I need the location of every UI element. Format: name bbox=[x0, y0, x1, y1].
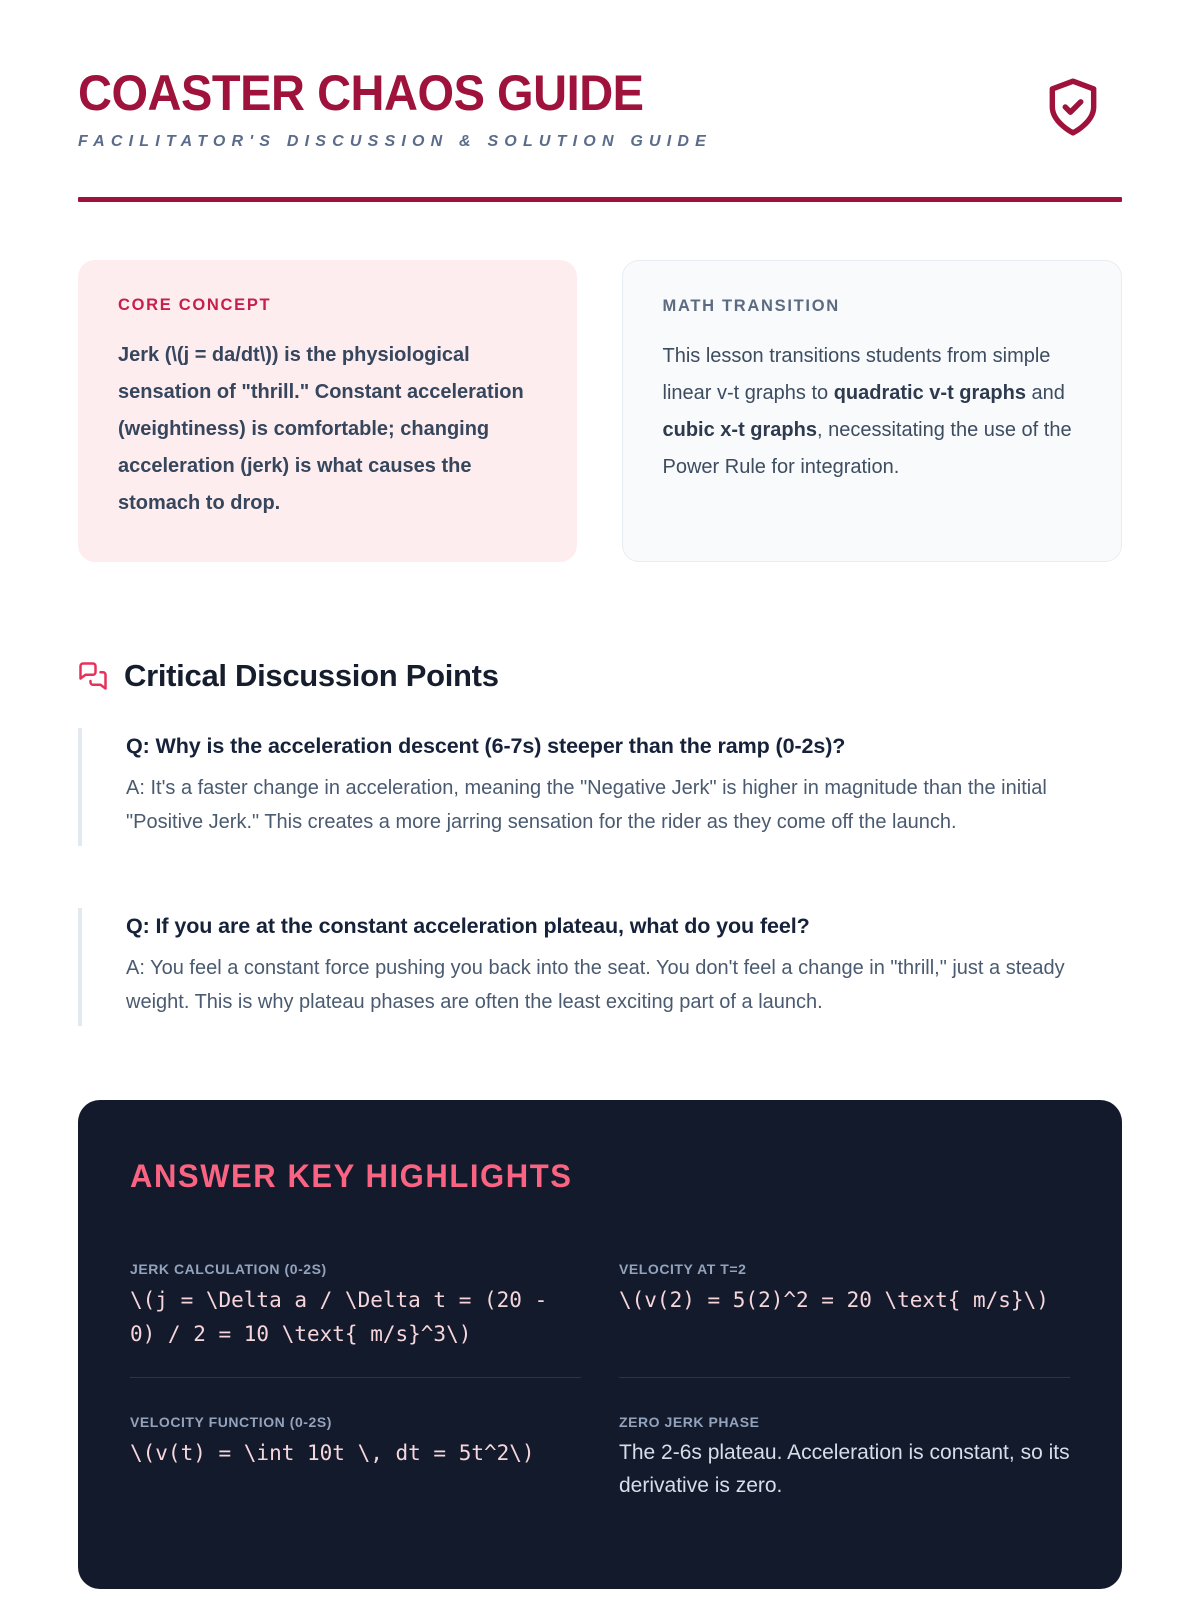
answer-key-entry-label: VELOCITY AT T=2 bbox=[619, 1261, 1070, 1277]
core-concept-card: CORE CONCEPT Jerk (\(j = da/dt\)) is the… bbox=[78, 260, 577, 562]
question-text: Q: Why is the acceleration descent (6-7s… bbox=[126, 734, 1122, 759]
core-concept-body: Jerk (\(j = da/dt\)) is the physiologica… bbox=[118, 337, 539, 522]
answer-key-entry-value: \(j = \Delta a / \Delta t = (20 - 0) / 2… bbox=[130, 1283, 581, 1351]
discussion-section-header: Critical Discussion Points bbox=[78, 658, 1122, 694]
discussion-list: Q: Why is the acceleration descent (6-7s… bbox=[78, 728, 1122, 1026]
question-text: Q: If you are at the constant accelerati… bbox=[126, 914, 1122, 939]
answer-key-entry-value: \(v(t) = \int 10t \, dt = 5t^2\) bbox=[130, 1436, 581, 1470]
header-text-block: COASTER CHAOS GUIDE FACILITATOR'S DISCUS… bbox=[78, 68, 1042, 151]
answer-key-entry-label: VELOCITY FUNCTION (0-2S) bbox=[130, 1414, 581, 1430]
answer-key-panel: ANSWER KEY HIGHLIGHTS JERK CALCULATION (… bbox=[78, 1100, 1122, 1589]
page-title: COASTER CHAOS GUIDE bbox=[78, 68, 984, 119]
answer-key-entry-label: JERK CALCULATION (0-2S) bbox=[130, 1261, 581, 1277]
list-item: Q: Why is the acceleration descent (6-7s… bbox=[78, 728, 1122, 846]
core-concept-label: CORE CONCEPT bbox=[118, 296, 539, 315]
callout-cards: CORE CONCEPT Jerk (\(j = da/dt\)) is the… bbox=[78, 260, 1122, 562]
answer-key-entry: VELOCITY AT T=2 \(v(2) = 5(2)^2 = 20 \te… bbox=[619, 1261, 1070, 1378]
answer-key-entry: VELOCITY FUNCTION (0-2S) \(v(t) = \int 1… bbox=[130, 1414, 581, 1529]
guide-page: COASTER CHAOS GUIDE FACILITATOR'S DISCUS… bbox=[0, 0, 1200, 1600]
answer-text: A: It's a faster change in acceleration,… bbox=[126, 771, 1122, 840]
math-transition-card: MATH TRANSITION This lesson transitions … bbox=[622, 260, 1123, 562]
list-item: Q: If you are at the constant accelerati… bbox=[78, 908, 1122, 1026]
answer-key-grid: JERK CALCULATION (0-2S) \(j = \Delta a /… bbox=[130, 1261, 1070, 1529]
answer-key-entry-value: \(v(2) = 5(2)^2 = 20 \text{ m/s}\) bbox=[619, 1283, 1070, 1317]
answer-key-entry-label: ZERO JERK PHASE bbox=[619, 1414, 1070, 1430]
answer-text: A: You feel a constant force pushing you… bbox=[126, 951, 1122, 1020]
answer-key-title: ANSWER KEY HIGHLIGHTS bbox=[130, 1158, 1042, 1195]
page-subtitle: FACILITATOR'S DISCUSSION & SOLUTION GUID… bbox=[78, 133, 1042, 151]
answer-key-entry: JERK CALCULATION (0-2S) \(j = \Delta a /… bbox=[130, 1261, 581, 1378]
shield-check-icon bbox=[1042, 76, 1104, 138]
page-header: COASTER CHAOS GUIDE FACILITATOR'S DISCUS… bbox=[78, 0, 1122, 151]
math-transition-body: This lesson transitions students from si… bbox=[663, 338, 1084, 486]
discussion-section-title: Critical Discussion Points bbox=[124, 658, 499, 694]
header-divider bbox=[78, 197, 1122, 202]
messages-square-icon bbox=[78, 661, 108, 691]
math-transition-label: MATH TRANSITION bbox=[663, 297, 1084, 316]
answer-key-entry-value: The 2-6s plateau. Acceleration is consta… bbox=[619, 1436, 1070, 1503]
answer-key-entry: ZERO JERK PHASE The 2-6s plateau. Accele… bbox=[619, 1414, 1070, 1529]
